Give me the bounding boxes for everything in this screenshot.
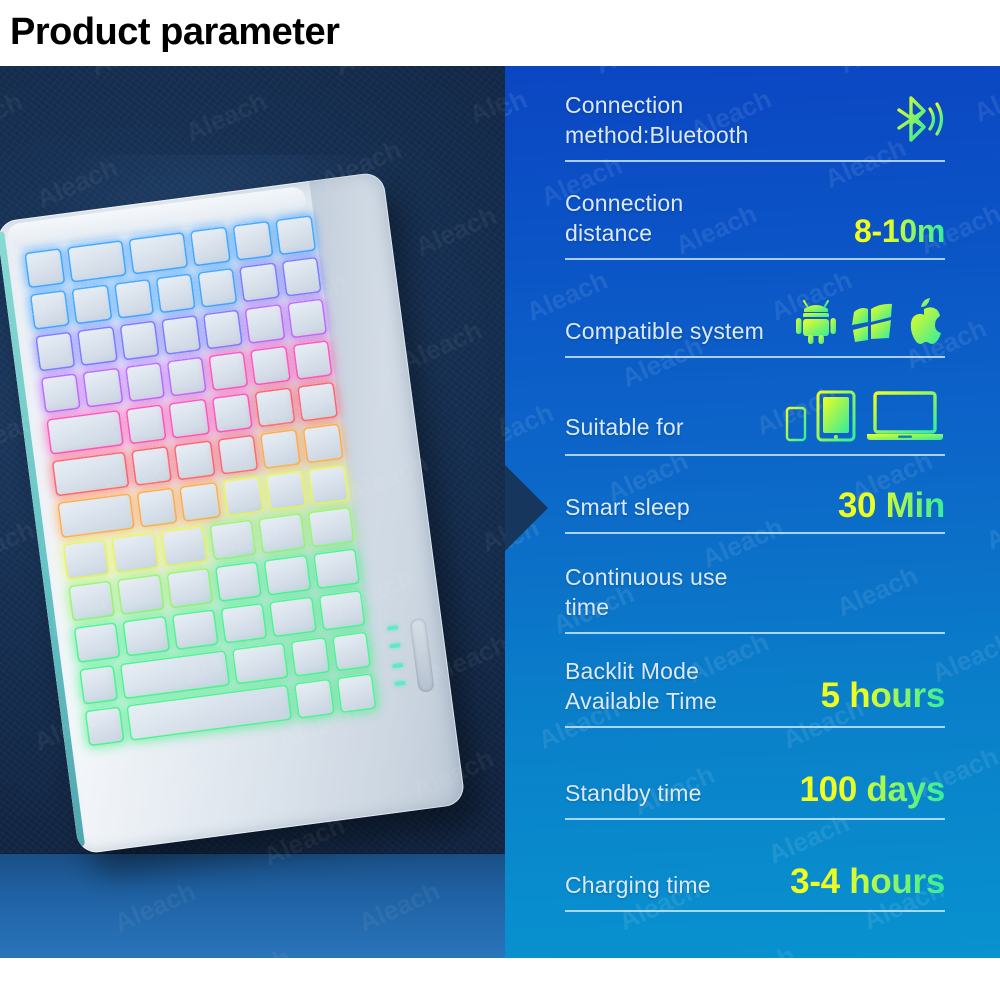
watermark-text: Aleach [505,397,558,460]
keycap [171,609,219,650]
panel-pointer-notch [505,464,548,552]
keycap [166,356,207,396]
keycap [215,561,263,602]
keycap [287,298,328,338]
keycap [168,398,210,439]
spec-value: 3-4 hours [790,862,945,902]
keycap [122,615,170,656]
keycap [72,284,113,324]
windows-icon [848,300,894,344]
keycap [63,539,111,580]
keycap [30,290,71,330]
keycap [67,240,127,283]
keycap [259,429,301,470]
keycap [35,331,76,371]
specification-panel: AleachAleachAleachAleachAleachAleachAlea… [505,66,1000,958]
specification-list: Connection method:Bluetooth [565,66,945,958]
keycap [331,631,371,671]
keycap [68,580,116,621]
spec-row-backlit-mode-time: Backlit Mode Available Time 5 hours [565,634,945,728]
keycap [189,226,231,267]
spec-value: 8-10m [854,213,945,250]
spec-icons [891,94,945,144]
bluetooth-icon [891,94,945,144]
spec-row-suitable-for: Suitable for [565,358,945,456]
keycap [308,465,350,506]
keycap [155,273,196,313]
keycap [222,476,264,517]
keyboard-image [0,171,466,856]
keycap [113,279,154,319]
keyboard-body [0,171,466,854]
keycap [82,367,123,407]
keycap [336,673,377,713]
product-photo: AleachAleachAleachAleachAleachAleachAlea… [0,66,505,958]
spec-label: Charging time [565,870,711,900]
android-icon [793,298,839,344]
keycap [117,574,165,615]
page-title: Product parameter [10,8,339,56]
keycap [292,340,333,380]
keycap [294,678,335,718]
keycap [126,404,168,445]
watermark-text: Aleach [981,494,1000,557]
keycap [313,548,361,589]
spec-icons [793,296,945,344]
spec-label: Continuous use time [565,562,770,622]
spec-row-connection-method: Connection method:Bluetooth [565,66,945,162]
keycap [79,665,119,705]
keycap [211,393,253,434]
keycap [161,315,202,355]
keycap [307,506,355,547]
keycap [46,410,124,455]
spec-row-standby-time: Standby time 100 days [565,728,945,820]
keycap [119,320,160,360]
keycap [131,446,173,487]
product-parameter-card: AleachAleachAleachAleachAleachAleachAlea… [0,66,1000,958]
keycap [77,326,118,366]
spec-label: Standby time [565,778,702,808]
keycap [254,387,296,428]
status-led [387,625,398,630]
keycap [302,423,344,464]
spec-label: Compatible system [565,316,764,346]
keycap [124,362,165,402]
spec-value: 30 Min [838,486,945,526]
spec-icons [785,390,945,442]
watermark-text: Aleach [969,66,1000,129]
keycap [264,554,312,595]
keycap [258,513,306,554]
keycap [245,304,286,344]
keycap [57,493,135,538]
keycap [166,567,214,608]
status-led [392,663,403,668]
keycap [265,470,307,511]
keycap [209,519,257,560]
keycap [24,248,66,289]
spec-label: Smart sleep [565,492,690,522]
keycap [160,526,208,567]
keycap [220,603,268,644]
spec-value: 5 hours [821,676,945,716]
tablet-icon [816,390,856,442]
spec-row-continuous-use-time: Continuous use time [565,534,945,634]
keycap [203,309,244,349]
spec-label: Suitable for [565,412,684,442]
desk-surface [0,854,505,958]
keycap [197,268,238,308]
watermark-text: Aleach [993,922,1000,958]
spec-value: 100 days [800,770,946,810]
keycap [111,532,159,573]
status-led [389,643,400,648]
spec-row-charging-time: Charging time 3-4 hours [565,820,945,912]
spec-row-compatible-system: Compatible system [565,260,945,358]
keycap [250,345,291,385]
keycap [137,487,179,528]
keycap [41,373,82,413]
keycap [275,215,317,256]
keycap [290,637,330,677]
keycap [297,381,339,422]
keycap [318,590,366,631]
keycap [217,434,259,475]
keycap [281,257,322,297]
keycap [179,482,221,523]
keycap [208,351,249,391]
keycap [128,232,188,275]
laptop-icon [865,390,945,442]
phone-icon [785,406,807,442]
spec-label: Backlit Mode Available Time [565,656,780,716]
keycap [232,221,274,262]
watermark-text: Aleach [505,84,532,147]
apple-icon [903,296,945,344]
keycap [52,451,130,496]
status-led [394,681,405,686]
spec-label: Connection method:Bluetooth [565,90,770,150]
spec-label: Connection distance [565,188,770,248]
spec-row-smart-sleep: Smart sleep 30 Min [565,456,945,534]
keycap [84,706,125,746]
keycap [73,622,121,663]
keycap-spacebar [120,650,230,700]
keycap [174,440,216,481]
keycap [269,596,317,637]
spec-row-connection-distance: Connection distance 8-10m [565,162,945,260]
keycap [239,262,280,302]
watermark-text: Aleach [996,379,1000,442]
keycap [232,642,289,685]
